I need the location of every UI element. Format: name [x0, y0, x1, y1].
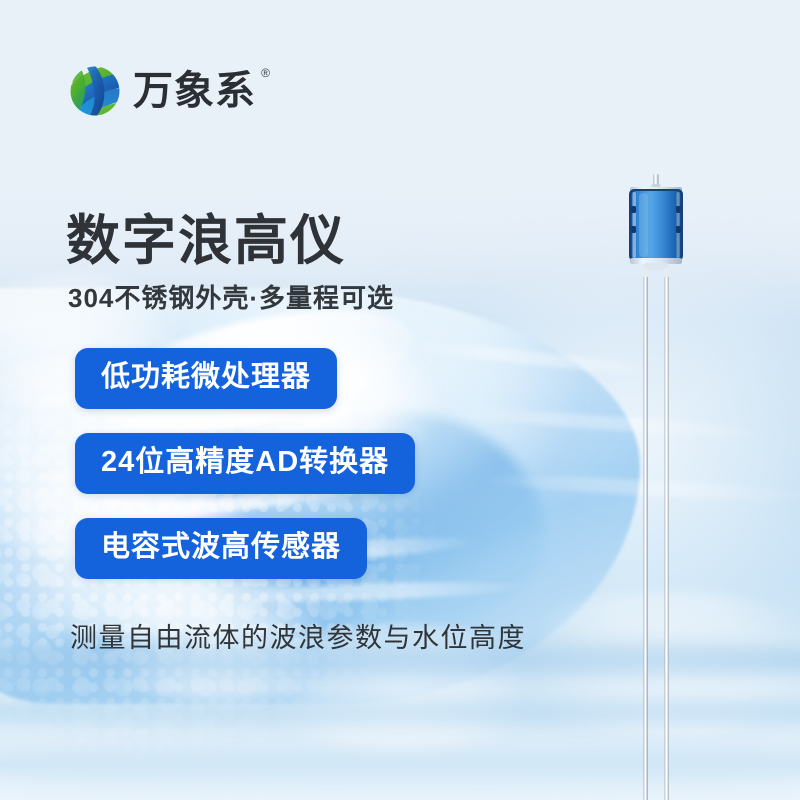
- connector-stud: [652, 174, 661, 189]
- stainless-steel-probe-rods: [643, 268, 670, 800]
- feature-pill-sensor: 电容式波高传感器: [75, 518, 367, 579]
- brand-logo: 万象系 ®: [66, 62, 256, 120]
- globe-swirl-logo-icon: [66, 62, 124, 120]
- blue-sensor-housing: [629, 187, 683, 270]
- brand-name-text: 万象系: [133, 69, 256, 113]
- brand-name: 万象系 ®: [133, 71, 256, 111]
- page-subtitle: 304不锈钢外壳·多量程可选: [68, 278, 394, 315]
- product-image: [612, 168, 702, 800]
- feature-pill-adc: 24位高精度AD转换器: [75, 433, 415, 494]
- product-poster: 万象系 ® 数字浪高仪 304不锈钢外壳·多量程可选 低功耗微处理器 24位高精…: [0, 0, 800, 800]
- tagline: 测量自由流体的波浪参数与水位高度: [70, 616, 526, 655]
- feature-pill-processor: 低功耗微处理器: [75, 348, 337, 409]
- feature-list: 低功耗微处理器 24位高精度AD转换器 电容式波高传感器: [75, 348, 415, 579]
- page-title: 数字浪高仪: [66, 212, 346, 270]
- trademark-symbol: ®: [261, 67, 271, 79]
